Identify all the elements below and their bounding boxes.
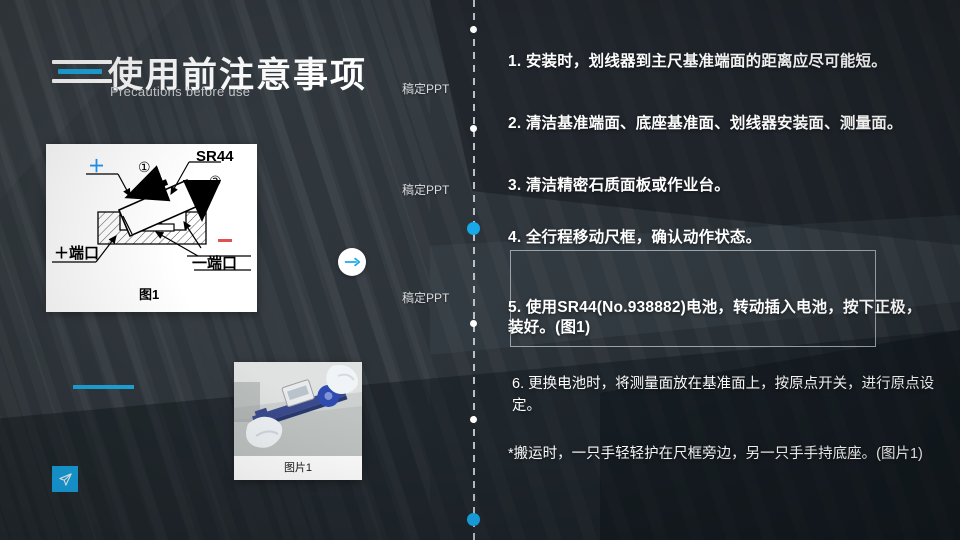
slide-canvas: 使用前注意事项 Precautions before use: [0, 0, 960, 540]
vignette-overlay: [0, 0, 960, 540]
